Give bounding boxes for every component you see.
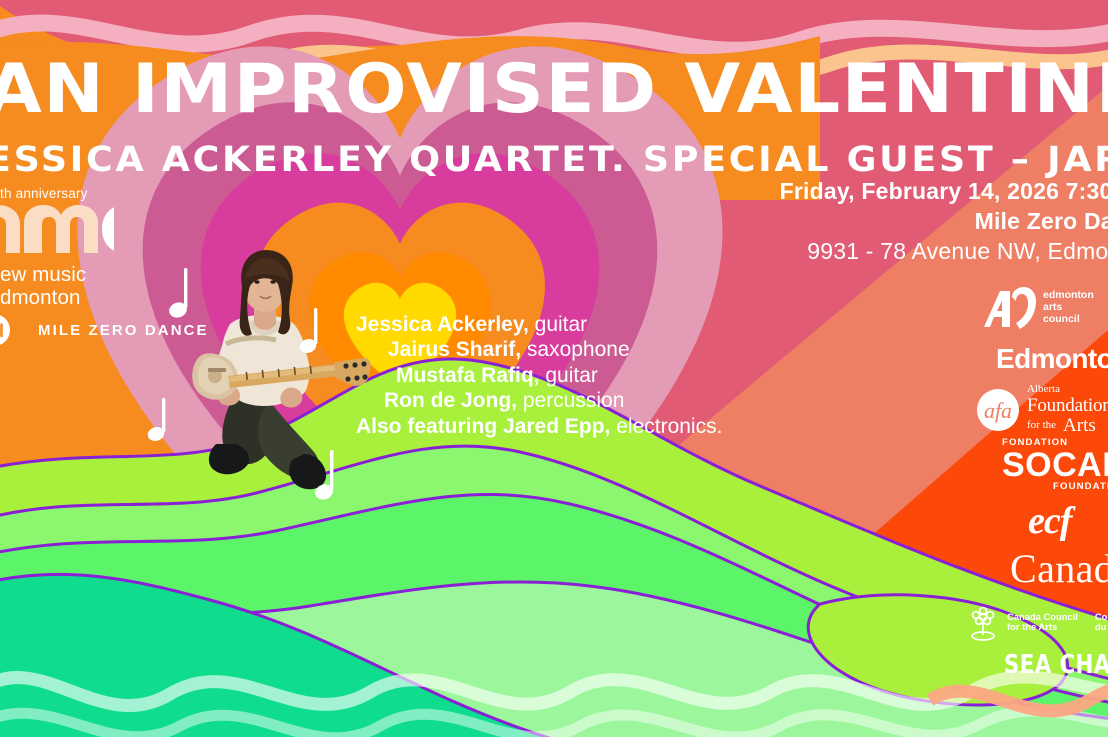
sponsor-logo-rail: edmonton arts council Edmonton afa Alber… bbox=[952, 282, 1108, 704]
nme-wordmark: ew music dmonton bbox=[0, 263, 114, 309]
performer-role: guitar bbox=[529, 313, 587, 336]
sponsor-line: Foundation bbox=[1027, 396, 1108, 416]
sponsor-socan-foundation: FONDATION SOCAN FOUNDATION bbox=[952, 438, 1108, 496]
event-date: Friday, February 14, 2026 7:30 PM bbox=[780, 176, 1108, 206]
performer-role: electronics. bbox=[610, 415, 722, 438]
sponsor-line: for the bbox=[1027, 420, 1056, 432]
anniversary-label: th anniversary bbox=[0, 186, 114, 201]
sponsor-line: Arts bbox=[1063, 416, 1096, 436]
performer-role: saxophone bbox=[521, 338, 630, 361]
headline-block: AN IMPROVISED VALENTINE ESSICA ACKERLEY … bbox=[0, 54, 1108, 182]
mzd-logomark-icon: zd bbox=[0, 312, 28, 348]
alberta-foundation-icon: afa bbox=[976, 388, 1020, 432]
svg-text:zd: zd bbox=[0, 321, 4, 341]
nme-line-2: dmonton bbox=[0, 286, 114, 309]
list-item: Also featuring Jared Epp, electronics. bbox=[356, 414, 722, 439]
performer-name: Jessica Ackerley, bbox=[356, 313, 529, 336]
mzd-wordmark: MILE ZERO DANCE bbox=[38, 322, 209, 339]
sponsor-line: BREWING bbox=[1004, 680, 1108, 691]
sponsor-line: du Canada bbox=[1095, 622, 1108, 632]
canada-council-tree-icon bbox=[966, 602, 1000, 642]
sponsor-canada: Canada bbox=[952, 546, 1108, 592]
performer-role: percussion bbox=[517, 389, 624, 412]
sponsor-line: FOUNDATION bbox=[1002, 482, 1108, 492]
sponsor-wordmark: SEA CHANGE bbox=[1004, 652, 1108, 680]
sponsor-wordmark: SOCAN bbox=[1002, 448, 1108, 482]
performer-list: Jessica Ackerley, guitar Jairus Sharif, … bbox=[356, 312, 722, 439]
poster-canvas: AN IMPROVISED VALENTINE ESSICA ACKERLEY … bbox=[0, 0, 1108, 737]
new-music-edmonton-logo: th anniversary ew music dmonton bbox=[0, 186, 114, 309]
performer-name: Also featuring Jared Epp, bbox=[356, 415, 610, 438]
svg-text:afa: afa bbox=[984, 398, 1012, 423]
sponsor-line: for the Arts bbox=[1007, 622, 1078, 632]
list-item: Jessica Ackerley, guitar bbox=[356, 312, 722, 337]
sponsor-wordmark: Canada bbox=[1010, 547, 1108, 591]
performer-role: guitar bbox=[540, 364, 598, 387]
sponsor-line: Alberta bbox=[1027, 384, 1108, 396]
performer-name: Ron de Jong, bbox=[384, 389, 517, 412]
edmonton-arts-council-icon bbox=[980, 285, 1036, 331]
page-title: AN IMPROVISED VALENTINE bbox=[0, 54, 1108, 126]
performer-name: Mustafa Rafiq, bbox=[396, 364, 540, 387]
sponsor-alberta-foundation-for-the-arts: afa Alberta Foundation for the Arts bbox=[952, 384, 1108, 436]
sponsor-ecf: ecf bbox=[952, 498, 1108, 544]
sponsor-canada-council-for-the-arts: Canada Council for the Arts Conseil des … bbox=[952, 594, 1108, 650]
sponsor-sea-change-brewing: SEA CHANGE BREWING bbox=[952, 652, 1108, 702]
event-venue: Mile Zero Dance bbox=[780, 206, 1108, 236]
performer-name: Jairus Sharif, bbox=[388, 338, 521, 361]
sponsor-edmonton-arts-council: edmonton arts council bbox=[952, 282, 1108, 334]
nme-line-1: ew music bbox=[0, 263, 114, 286]
sponsor-wordmark: Edmonton bbox=[996, 343, 1108, 375]
sponsor-wordmark: ecf bbox=[1028, 499, 1071, 543]
list-item: Mustafa Rafiq, guitar bbox=[356, 363, 722, 388]
event-address: 9931 - 78 Avenue NW, Edmonton bbox=[780, 236, 1108, 266]
sponsor-edmonton: Edmonton bbox=[952, 336, 1108, 382]
nme-logomark-icon bbox=[0, 203, 114, 255]
event-details: Friday, February 14, 2026 7:30 PM Mile Z… bbox=[780, 176, 1108, 266]
list-item: Ron de Jong, percussion bbox=[356, 388, 722, 413]
list-item: Jairus Sharif, saxophone bbox=[356, 337, 722, 362]
performer-photo-cutout bbox=[168, 246, 384, 498]
mile-zero-dance-logo: zd MILE ZERO DANCE bbox=[0, 312, 209, 348]
sponsor-line: council bbox=[1043, 314, 1094, 326]
